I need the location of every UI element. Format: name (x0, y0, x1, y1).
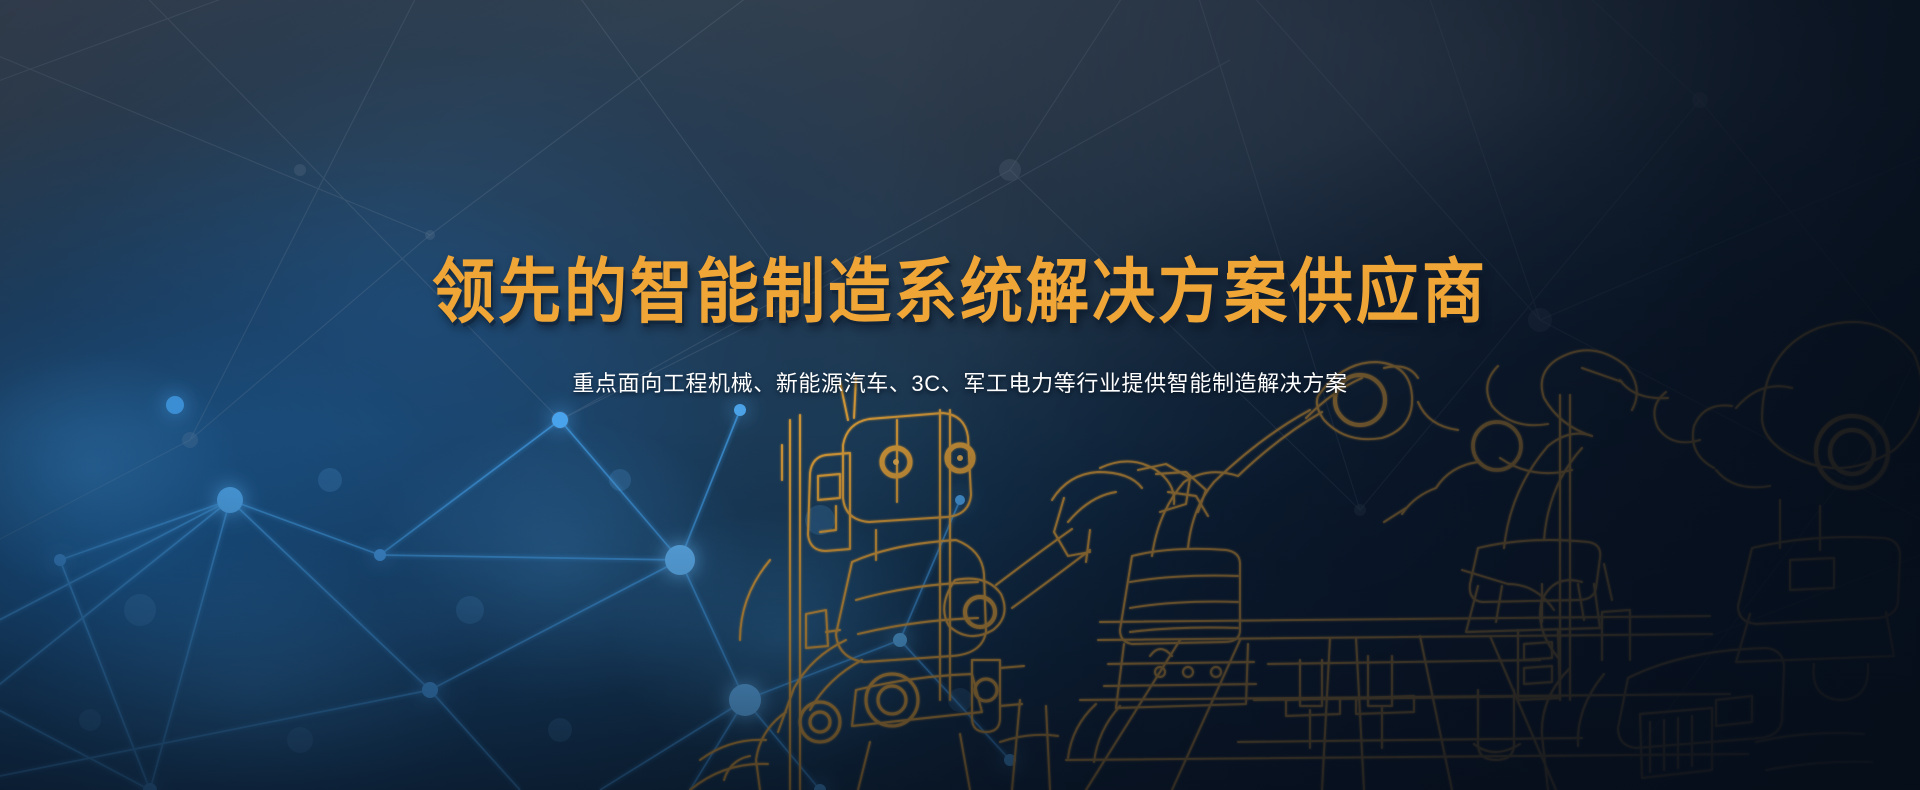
hero-banner: 领先的智能制造系统解决方案供应商 重点面向工程机械、新能源汽车、3C、军工电力等… (0, 0, 1920, 790)
hero-text-block: 领先的智能制造系统解决方案供应商 重点面向工程机械、新能源汽车、3C、军工电力等… (0, 258, 1920, 399)
page-subtitle: 重点面向工程机械、新能源汽车、3C、军工电力等行业提供智能制造解决方案 (0, 321, 1920, 399)
page-title: 领先的智能制造系统解决方案供应商 (0, 258, 1920, 329)
